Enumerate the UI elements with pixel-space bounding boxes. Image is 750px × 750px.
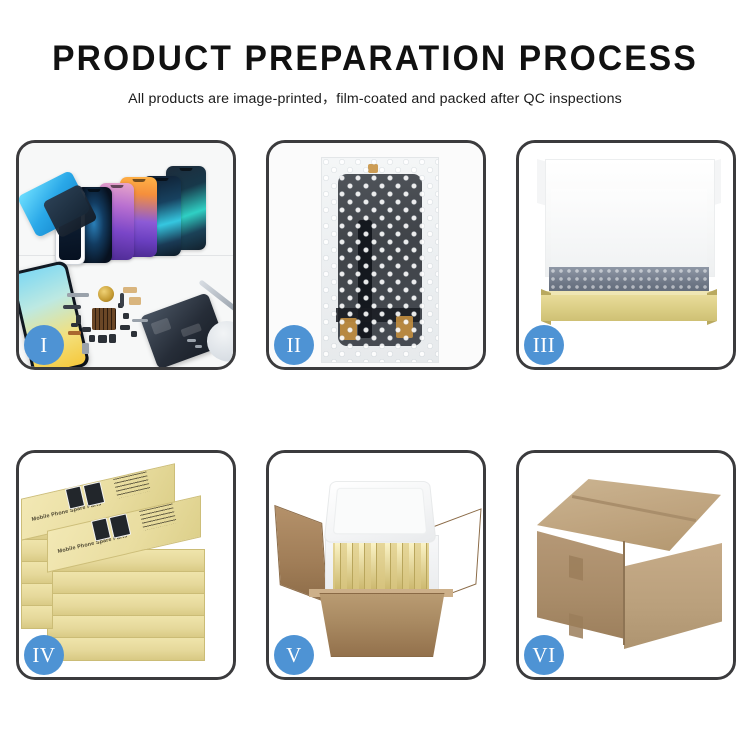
kraft-boxes-inside bbox=[333, 543, 429, 589]
page-header: PRODUCT PREPARATION PROCESS All products… bbox=[0, 0, 750, 108]
bubble-wrap-bag bbox=[321, 157, 439, 363]
carton-tape-upper bbox=[569, 555, 583, 580]
carton-front bbox=[311, 593, 453, 657]
step-panel-4[interactable]: Mobile Phone Spare Parts Mobile Phone Sp… bbox=[16, 450, 236, 680]
bubble-texture bbox=[322, 158, 438, 362]
process-step-grid: I II bbox=[16, 140, 736, 680]
step-panel-5[interactable]: V bbox=[266, 450, 486, 680]
page-subtitle: All products are image-printed，film-coat… bbox=[0, 88, 750, 108]
step-panel-2[interactable]: II bbox=[266, 140, 486, 370]
step-badge-2: II bbox=[274, 325, 314, 365]
step-panel-3[interactable]: III bbox=[516, 140, 736, 370]
step-badge-3: III bbox=[524, 325, 564, 365]
step-badge-1: I bbox=[24, 325, 64, 365]
carton-tape-lower bbox=[569, 613, 583, 638]
page-title: PRODUCT PREPARATION PROCESS bbox=[15, 38, 735, 79]
speaker-module bbox=[98, 286, 114, 302]
step-panel-6[interactable]: VI bbox=[516, 450, 736, 680]
step-badge-5: V bbox=[274, 635, 314, 675]
step-panel-1[interactable]: I bbox=[16, 140, 236, 370]
step-badge-4: IV bbox=[24, 635, 64, 675]
kraft-box-front bbox=[541, 295, 717, 321]
foam-sheet bbox=[551, 189, 707, 267]
foam-lid bbox=[324, 481, 437, 542]
step-badge-6: VI bbox=[524, 635, 564, 675]
chip-grid bbox=[92, 308, 116, 330]
